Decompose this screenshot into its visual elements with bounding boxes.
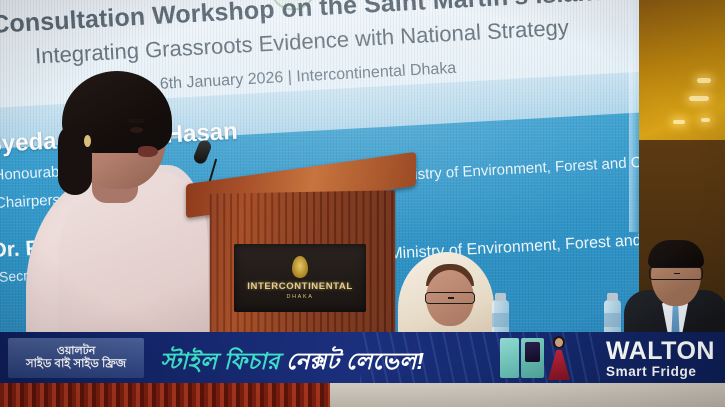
banner-headline: স্টাইল ফিচার নেক্সট লেভেল! bbox=[160, 343, 424, 382]
refrigerator-icon bbox=[500, 338, 544, 378]
walton-ad-banner[interactable]: ওয়ালটন সাইড বাই সাইড ফ্রিজ স্টাইল ফিচার… bbox=[0, 332, 725, 383]
hotel-crest-icon bbox=[292, 256, 308, 278]
speaker-eyebrow bbox=[128, 119, 144, 123]
seated-panelist-man bbox=[624, 236, 725, 346]
ceiling-light-icon bbox=[697, 78, 711, 83]
bottle-label bbox=[604, 313, 621, 327]
speaker-hair-side bbox=[58, 123, 92, 195]
banner-product-badge: ওয়ালটন সাইড বাই সাইড ফ্রিজ bbox=[8, 338, 144, 378]
woman-in-red-dress-icon bbox=[546, 336, 572, 380]
earring-icon bbox=[84, 135, 91, 147]
walton-brand-tagline: Smart Fridge bbox=[606, 365, 715, 379]
ceiling-light-icon bbox=[689, 96, 709, 101]
banner-badge-line1: ওয়ালটন bbox=[57, 345, 96, 358]
walton-logo[interactable]: WALTON Smart Fridge bbox=[606, 339, 715, 379]
bottle-cap bbox=[495, 293, 506, 301]
banner-badge-line2: সাইড বাই সাইড ফ্রিজ bbox=[26, 358, 126, 371]
bottle-label bbox=[492, 313, 509, 327]
speaker-eye bbox=[130, 127, 143, 133]
model-dress bbox=[548, 350, 570, 380]
podium-city-name: DHAKA bbox=[287, 294, 314, 300]
fridge-display-panel bbox=[525, 342, 540, 362]
screen-right-edge bbox=[629, 0, 639, 232]
glasses-icon bbox=[649, 267, 703, 280]
fridge-door-left bbox=[500, 338, 519, 378]
model-head bbox=[555, 338, 563, 347]
podium-plaque: INTERCONTINENTAL DHAKA bbox=[234, 244, 366, 312]
banner-headline-part1: স্টাইল ফিচার bbox=[160, 348, 280, 374]
screenshot-root: Consultation Workshop on the Saint Marti… bbox=[0, 0, 725, 407]
walton-brand-name: WALTON bbox=[606, 339, 715, 364]
ceiling-light-icon bbox=[673, 120, 685, 124]
panelist-hair bbox=[648, 240, 704, 268]
speaker-mouth bbox=[138, 146, 158, 157]
stage-curtain bbox=[0, 381, 330, 407]
podium-brand-name: INTERCONTINENTAL bbox=[247, 281, 352, 292]
bottle-cap bbox=[607, 293, 618, 301]
banner-headline-part2: নেক্সট লেভেল! bbox=[286, 348, 424, 374]
glasses-icon bbox=[425, 292, 475, 304]
ceiling-light-icon bbox=[701, 118, 710, 122]
